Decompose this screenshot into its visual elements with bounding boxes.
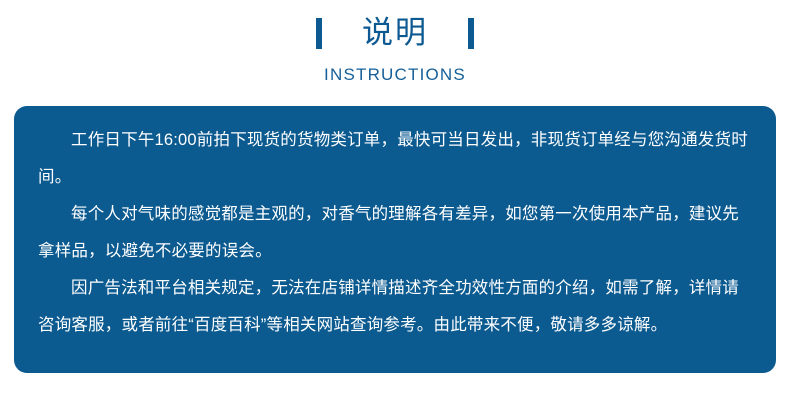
vertical-bar-right-icon <box>468 18 474 49</box>
title-row: 说明 <box>0 16 790 50</box>
page-header: 说明 INSTRUCTIONS <box>0 0 790 100</box>
instructions-page: 说明 INSTRUCTIONS 工作日下午16:00前拍下现货的货物类订单，最快… <box>0 0 790 401</box>
instruction-paragraph-2: 每个人对气味的感觉都是主观的，对香气的理解各有差异，如您第一次使用本产品，建议先… <box>38 196 754 270</box>
instruction-paragraph-3: 因广告法和平台相关规定，无法在店铺详情描述齐全功效性方面的介绍，如需了解，详情请… <box>38 270 754 344</box>
instructions-panel: 工作日下午16:00前拍下现货的货物类订单，最快可当日发出，非现货订单经与您沟通… <box>14 106 776 373</box>
page-title: 说明 <box>362 16 428 50</box>
instruction-paragraph-1: 工作日下午16:00前拍下现货的货物类订单，最快可当日发出，非现货订单经与您沟通… <box>38 122 754 196</box>
page-subtitle: INSTRUCTIONS <box>0 64 790 85</box>
vertical-bar-left-icon <box>316 18 322 49</box>
